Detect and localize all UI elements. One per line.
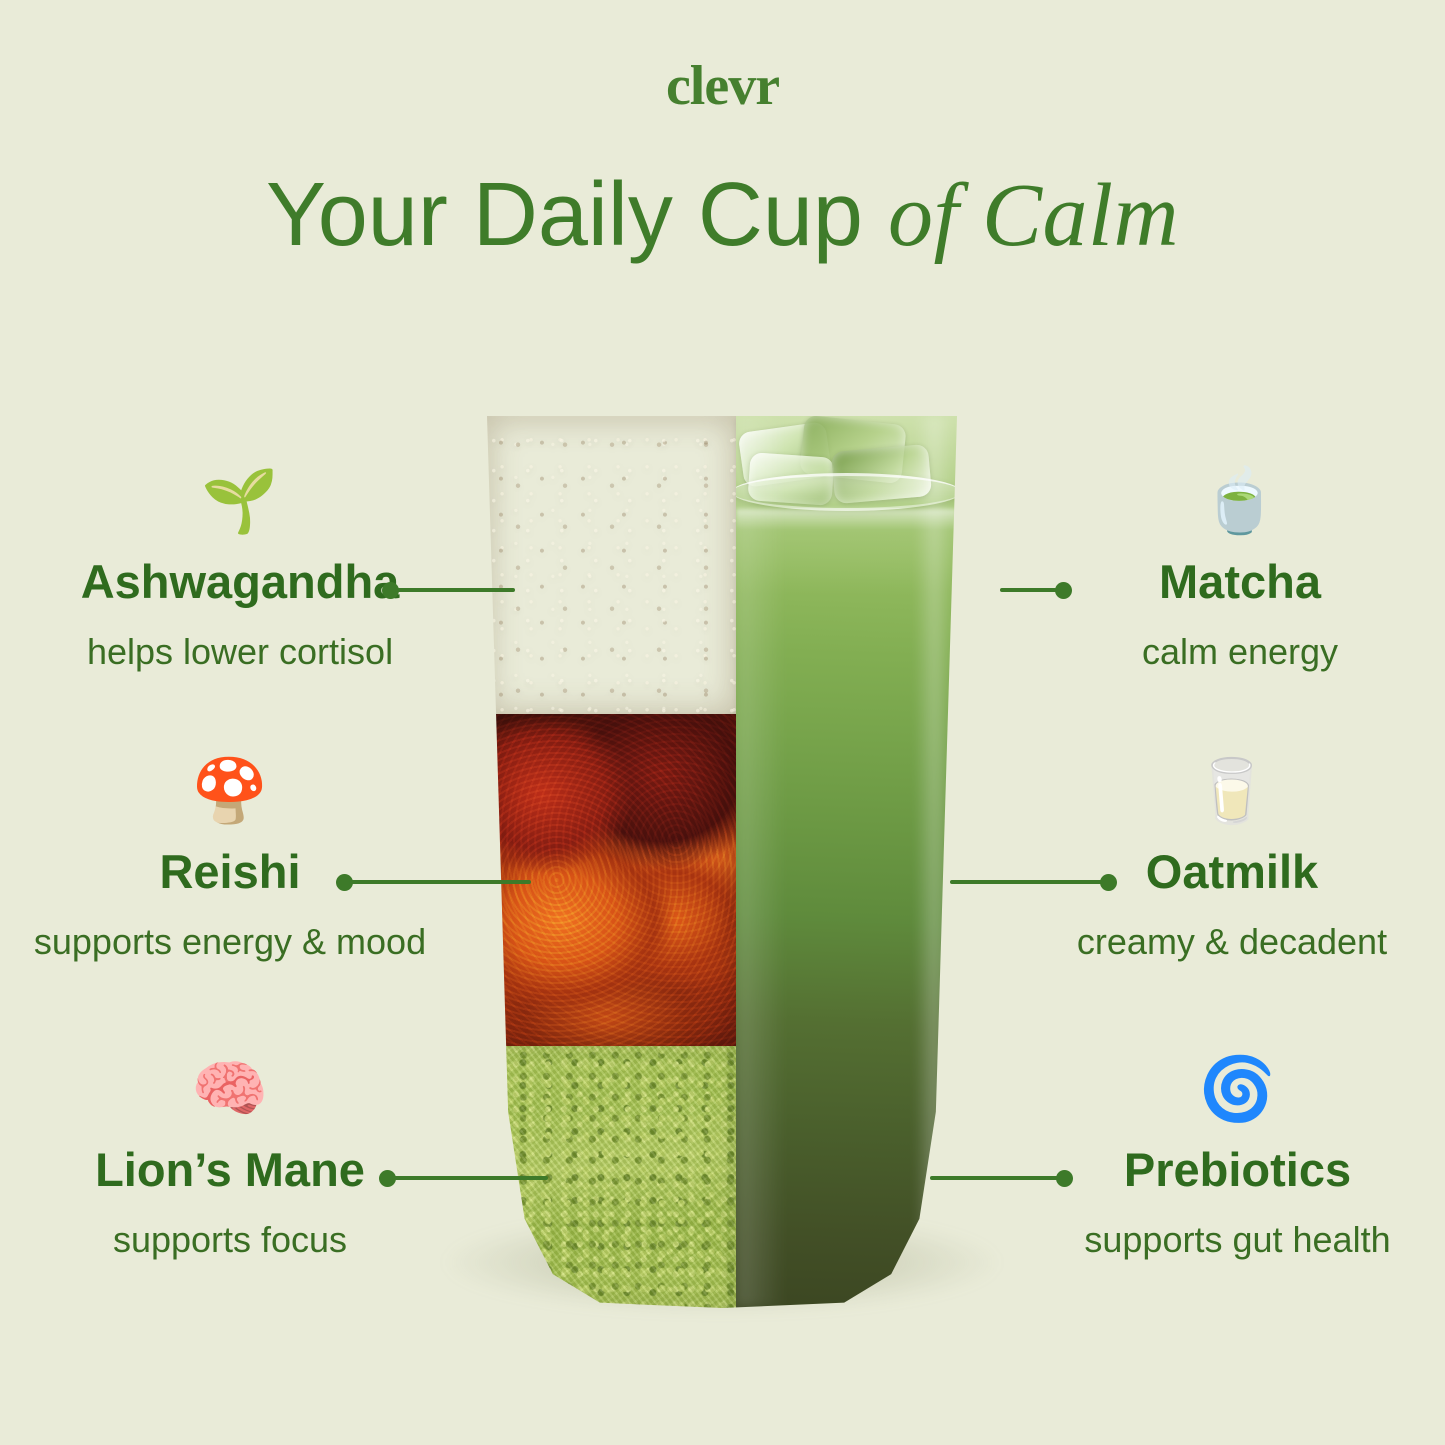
callout-oatmilk: 🥛 Oatmilk creamy & decadent (1022, 760, 1442, 960)
matcha-bowl-icon: 🍵 (1045, 470, 1435, 532)
page-title-part1: Your Daily Cup (266, 165, 888, 265)
ingredient-desc-lions-mane: supports focus (30, 1222, 430, 1258)
connector-line-prebiotics (930, 1176, 1063, 1180)
ingredient-name-ashwagandha: Ashwagandha (40, 558, 440, 605)
seedling-icon: 🌱 (40, 470, 440, 532)
ingredient-desc-reishi: supports energy & mood (10, 924, 450, 960)
callout-lions-mane: 🧠 Lion’s Mane supports focus (30, 1058, 430, 1258)
ingredient-name-oatmilk: Oatmilk (1022, 848, 1442, 895)
ingredient-desc-ashwagandha: helps lower cortisol (40, 634, 440, 670)
product-image (487, 416, 957, 1308)
callout-prebiotics: 🌀 Prebiotics supports gut health (1030, 1058, 1445, 1258)
glass-highlight-left (736, 416, 785, 1308)
brand-logo: clevr (0, 58, 1445, 114)
page-title-part2: of Calm (888, 166, 1179, 265)
connector-line-matcha (1000, 588, 1062, 592)
brain-icon: 🧠 (30, 1058, 430, 1120)
cyclone-spiral-icon: 🌀 (1030, 1058, 1445, 1120)
ingredient-name-matcha: Matcha (1045, 558, 1435, 605)
iced-matcha-latte-photo (736, 416, 957, 1308)
page-title: Your Daily Cup of Calm (0, 168, 1445, 264)
ingredient-name-lions-mane: Lion’s Mane (30, 1146, 430, 1193)
connector-dot-matcha (1055, 582, 1072, 599)
callout-reishi: 🍄 Reishi supports energy & mood (10, 760, 450, 960)
ingredient-desc-oatmilk: creamy & decadent (1022, 924, 1442, 960)
glass-of-milk-icon: 🥛 (1022, 760, 1442, 822)
connector-line-lions-mane (392, 1176, 548, 1180)
infographic-canvas: clevr Your Daily Cup of Calm (0, 0, 1445, 1445)
ingredient-photo-stack (487, 416, 736, 1308)
callout-ashwagandha: 🌱 Ashwagandha helps lower cortisol (40, 470, 440, 670)
connector-line-reishi (349, 880, 531, 884)
ingredient-name-prebiotics: Prebiotics (1030, 1146, 1445, 1193)
connector-dot-oatmilk (1100, 874, 1117, 891)
ingredient-name-reishi: Reishi (10, 848, 450, 895)
glass-highlight (915, 416, 950, 1308)
ingredient-desc-prebiotics: supports gut health (1030, 1222, 1445, 1258)
callout-matcha: 🍵 Matcha calm energy (1045, 470, 1435, 670)
connector-line-oatmilk (950, 880, 1107, 884)
ashwagandha-powder-photo (487, 416, 736, 714)
connector-line-ashwagandha (395, 588, 515, 592)
ingredient-desc-matcha: calm energy (1045, 634, 1435, 670)
connector-dot-prebiotics (1056, 1170, 1073, 1187)
cup-silhouette (487, 416, 957, 1308)
mushroom-icon: 🍄 (10, 760, 450, 822)
